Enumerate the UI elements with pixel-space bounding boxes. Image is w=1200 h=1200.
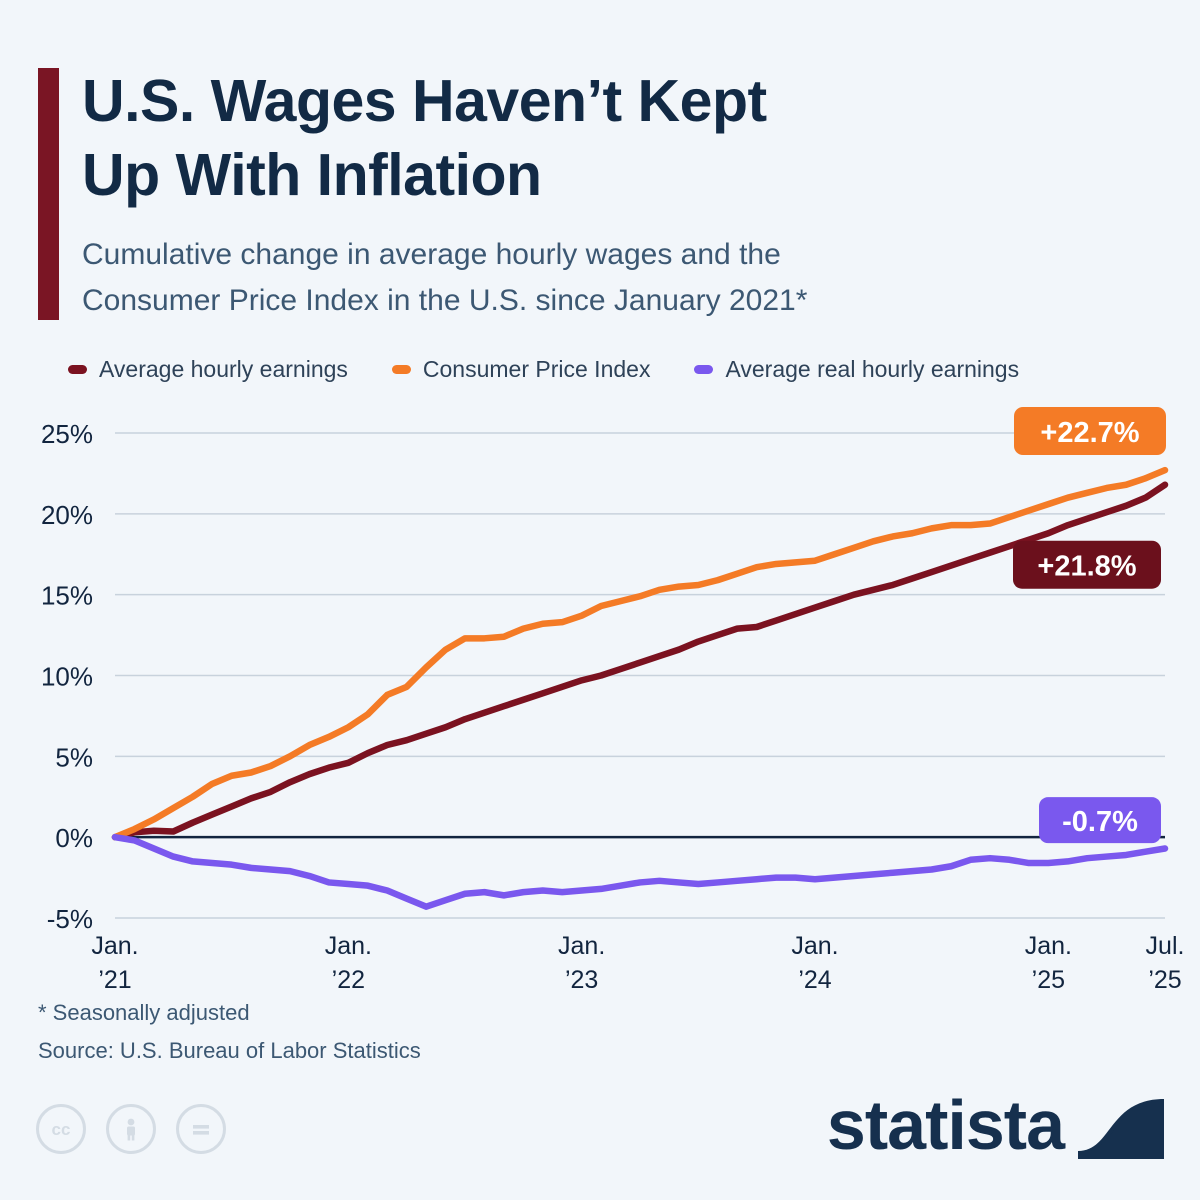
x-axis-tick-label: Jan. — [558, 932, 605, 960]
x-axis-tick-label: Jan. — [91, 932, 138, 960]
callout-label: +22.7% — [1040, 417, 1139, 449]
chart-gridlines — [115, 433, 1165, 918]
chart-source: Source: U.S. Bureau of Labor Statistics — [38, 1038, 421, 1064]
svg-text:cc: cc — [52, 1120, 71, 1139]
y-axis-tick-label: 20% — [41, 500, 93, 530]
y-axis-tick-label: -5% — [47, 904, 93, 934]
series-line — [115, 837, 1165, 907]
legend-item-average-hourly-earnings[interactable]: Average hourly earnings — [68, 356, 348, 383]
page-title-line-2: Up With Inflation — [82, 138, 1082, 212]
x-axis-tick-label: ’21 — [98, 966, 131, 994]
y-axis-tick-label: 25% — [41, 419, 93, 449]
statista-logo: statista — [827, 1090, 1164, 1160]
chart-series-lines — [115, 470, 1165, 907]
x-axis-tick-label: ’25 — [1148, 966, 1181, 994]
legend-item-consumer-price-index[interactable]: Consumer Price Index — [392, 356, 651, 383]
statista-wordmark: statista — [827, 1090, 1064, 1160]
chart-footnote: * Seasonally adjusted — [38, 1000, 250, 1026]
value-callout: +22.7% — [1014, 407, 1166, 455]
header: U.S. Wages Haven’t Kept Up With Inflatio… — [0, 0, 1200, 330]
legend-item-label: Average hourly earnings — [99, 356, 348, 383]
x-axis-tick-label: ’24 — [798, 966, 831, 994]
y-axis-tick-label: 0% — [55, 823, 93, 853]
chart-canvas: 25%20%15%10%5%0%-5% Jan.’21Jan.’22Jan.’2… — [0, 395, 1200, 995]
chart-y-axis-labels: 25%20%15%10%5%0%-5% — [41, 419, 93, 934]
x-axis-tick-label: ’23 — [565, 966, 598, 994]
callout-label: +21.8% — [1037, 551, 1136, 583]
legend-item-average-real-hourly-earnings[interactable]: Average real hourly earnings — [694, 356, 1019, 383]
series-line — [115, 470, 1165, 837]
page-title-line-1: U.S. Wages Haven’t Kept — [82, 64, 1082, 138]
cc-by-icon[interactable] — [106, 1104, 156, 1154]
chart-legend: Average hourly earnings Consumer Price I… — [68, 352, 1188, 386]
title-accent-bar — [38, 68, 59, 320]
legend-item-label: Average real hourly earnings — [725, 356, 1019, 383]
cc-glyph-icon: cc — [46, 1114, 76, 1144]
page-subtitle-line-1: Cumulative change in average hourly wage… — [82, 232, 1092, 278]
y-axis-tick-label: 5% — [55, 742, 93, 772]
callout-label: -0.7% — [1062, 806, 1138, 838]
y-axis-tick-label: 15% — [41, 581, 93, 611]
chart-value-callouts: +22.7%+21.8%-0.7% — [1013, 407, 1166, 843]
page-title: U.S. Wages Haven’t Kept Up With Inflatio… — [82, 64, 1082, 212]
legend-item-label: Consumer Price Index — [423, 356, 651, 383]
y-axis-tick-label: 10% — [41, 662, 93, 692]
x-axis-tick-label: ’25 — [1032, 966, 1065, 994]
value-callout: -0.7% — [1039, 797, 1161, 843]
equals-glyph-icon — [186, 1114, 216, 1144]
x-axis-tick-label: Jan. — [325, 932, 372, 960]
x-axis-tick-label: Jan. — [791, 932, 838, 960]
cc-nd-icon[interactable] — [176, 1104, 226, 1154]
legend-swatch-icon — [392, 365, 411, 374]
value-callout: +21.8% — [1013, 541, 1161, 589]
x-axis-tick-label: ’22 — [332, 966, 365, 994]
page-subtitle-line-2: Consumer Price Index in the U.S. since J… — [82, 278, 1092, 324]
page-subtitle: Cumulative change in average hourly wage… — [82, 232, 1092, 324]
x-axis-tick-label: Jan. — [1025, 932, 1072, 960]
cc-icon[interactable]: cc — [36, 1104, 86, 1154]
series-line — [115, 485, 1165, 837]
legend-swatch-icon — [694, 365, 713, 374]
creative-commons-icons: cc — [36, 1104, 246, 1154]
statista-mark-icon — [1078, 1091, 1164, 1159]
legend-swatch-icon — [68, 365, 87, 374]
x-axis-tick-label: Jul. — [1146, 932, 1185, 960]
person-glyph-icon — [116, 1114, 146, 1144]
line-chart: 25%20%15%10%5%0%-5% Jan.’21Jan.’22Jan.’2… — [0, 395, 1200, 995]
chart-x-axis-labels: Jan.’21Jan.’22Jan.’23Jan.’24Jan.’25Jul.’… — [91, 932, 1184, 994]
